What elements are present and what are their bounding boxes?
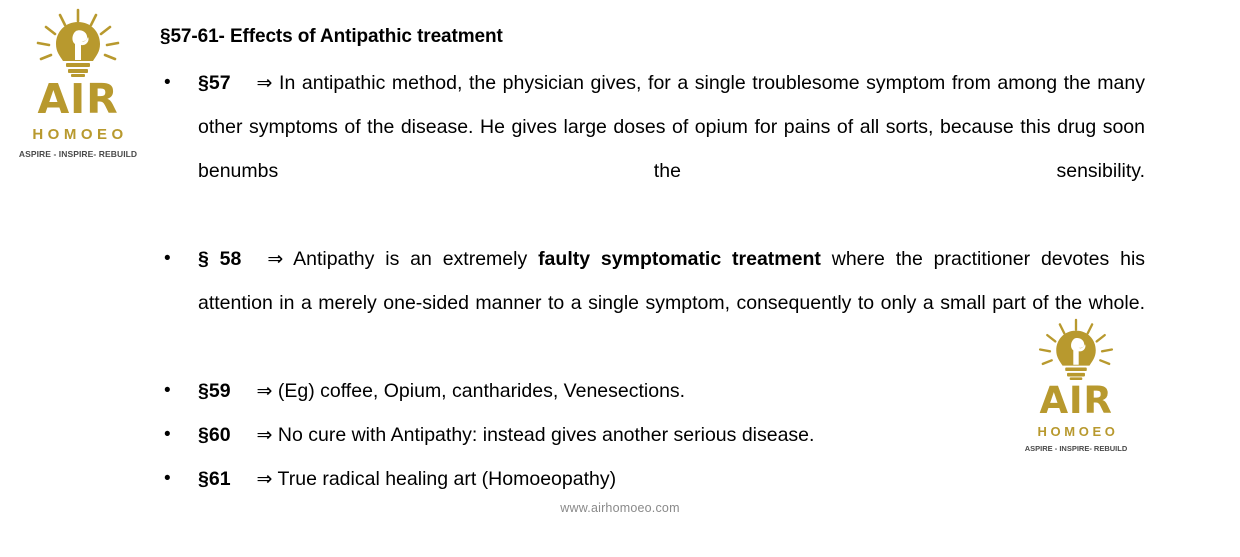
emphasised-phrase: faulty symptomatic treatment <box>538 248 821 270</box>
list-item-text: §61⇒ True radical healing art (Homoeopat… <box>198 457 1145 501</box>
logo-subtitle: HOMOEO <box>1026 425 1130 438</box>
list-item-text: § 58⇒ Antipathy is an extremely faulty s… <box>198 237 1145 369</box>
bullet-glyph: • <box>164 369 171 413</box>
body-text-a: In antipathic method, the physician give… <box>198 72 1145 182</box>
implies-arrow-icon: ⇒ <box>267 248 283 270</box>
bullet-glyph: • <box>164 237 171 281</box>
body-text-a: Antipathy is an extremely <box>293 248 538 270</box>
section-number: § 58 <box>198 248 241 270</box>
list-item-text: §57⇒ In antipathic method, the physician… <box>198 61 1145 237</box>
list-item-text: §59⇒ (Eg) coffee, Opium, cantharides, Ve… <box>198 369 1145 413</box>
bullet-glyph: • <box>164 413 171 457</box>
logo-subtitle: HOMOEO <box>22 127 138 142</box>
lightbulb-icon <box>1032 318 1120 381</box>
bullet-glyph: • <box>164 457 171 501</box>
list-item-text: §60⇒ No cure with Antipathy: instead giv… <box>198 413 1145 457</box>
lightbulb-icon <box>29 8 127 78</box>
section-number: §57 <box>198 72 231 94</box>
list-item: • §60⇒ No cure with Antipathy: instead g… <box>160 413 1145 457</box>
slide-title: §57-61- Effects of Antipathic treatment <box>160 26 1145 49</box>
implies-arrow-icon: ⇒ <box>257 468 273 490</box>
logo-tagline: ASPIRE - INSPIRE- REBUILD <box>1022 445 1130 453</box>
logo-wordmark: AIR <box>1022 382 1130 419</box>
implies-arrow-icon: ⇒ <box>257 424 273 446</box>
implies-arrow-icon: ⇒ <box>257 380 273 402</box>
section-number: §60 <box>198 424 231 446</box>
body-text-a: (Eg) coffee, Opium, cantharides, Venesec… <box>278 380 685 402</box>
list-item: • §57⇒ In antipathic method, the physici… <box>160 61 1145 237</box>
implies-arrow-icon: ⇒ <box>257 72 273 94</box>
body-text-a: True radical healing art (Homoeopathy) <box>278 468 617 490</box>
slide-content: §57-61- Effects of Antipathic treatment … <box>160 26 1145 501</box>
body-text-a: No cure with Antipathy: instead gives an… <box>278 424 815 446</box>
footer-website-url: www.airhomoeo.com <box>0 501 1240 515</box>
list-item: • §59⇒ (Eg) coffee, Opium, cantharides, … <box>160 369 1145 413</box>
brand-logo-watermark: AIR HOMOEO ASPIRE - INSPIRE- REBUILD <box>1022 318 1130 453</box>
list-item: • §61⇒ True radical healing art (Homoeop… <box>160 457 1145 501</box>
section-number: §59 <box>198 380 231 402</box>
logo-tagline: ASPIRE - INSPIRE- REBUILD <box>18 150 138 159</box>
bullet-glyph: • <box>164 61 171 105</box>
logo-wordmark: AIR <box>18 79 138 120</box>
section-number: §61 <box>198 468 231 490</box>
bullet-list: • §57⇒ In antipathic method, the physici… <box>160 61 1145 501</box>
brand-logo-main: AIR HOMOEO ASPIRE - INSPIRE- REBUILD <box>18 8 138 159</box>
list-item: • § 58⇒ Antipathy is an extremely faulty… <box>160 237 1145 369</box>
